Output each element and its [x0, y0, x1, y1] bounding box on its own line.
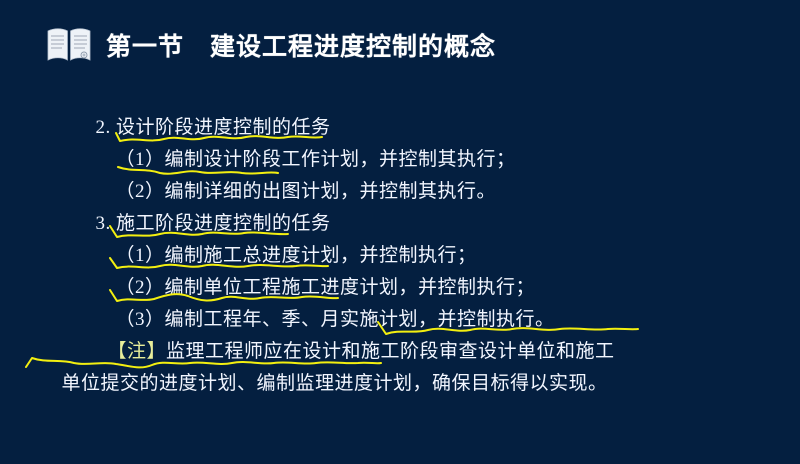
list-item: 2. 设计阶段进度控制的任务 [0, 80, 800, 112]
page-title: 第一节 建设工程进度控制的概念 [106, 27, 496, 63]
line-text: （3）编制工程年、季、月实施计划，并控制执行。 [116, 309, 555, 330]
line-text: 3. 施工阶段进度控制的任务 [96, 213, 331, 234]
note-text-line-2: 单位提交的进度计划、编制监理进度计划，确保目标得以实现。 [62, 373, 608, 394]
note-marker: 【注】 [108, 341, 167, 362]
open-book-icon [46, 26, 92, 64]
line-text: （1）编制设计阶段工作计划，并控制其执行； [116, 149, 516, 170]
line-text: （1）编制施工总进度计划，并控制执行； [116, 245, 477, 266]
slide-header: 第一节 建设工程进度控制的概念 [46, 26, 496, 64]
line-text: 2. 设计阶段进度控制的任务 [96, 117, 331, 138]
slide-body: 2. 设计阶段进度控制的任务 （1）编制设计阶段工作计划，并控制其执行； （2）… [0, 80, 800, 368]
line-text: （2）编制单位工程施工进度计划，并控制执行； [116, 277, 536, 298]
note-text-line-1: 监理工程师应在设计和施工阶段审查设计单位和施工 [166, 341, 615, 362]
line-text: （2）编制详细的出图计划，并控制其执行。 [116, 181, 497, 202]
slide-canvas: 第一节 建设工程进度控制的概念 2. 设计阶段进度控制的任务 （1）编制设计阶段… [0, 0, 800, 450]
